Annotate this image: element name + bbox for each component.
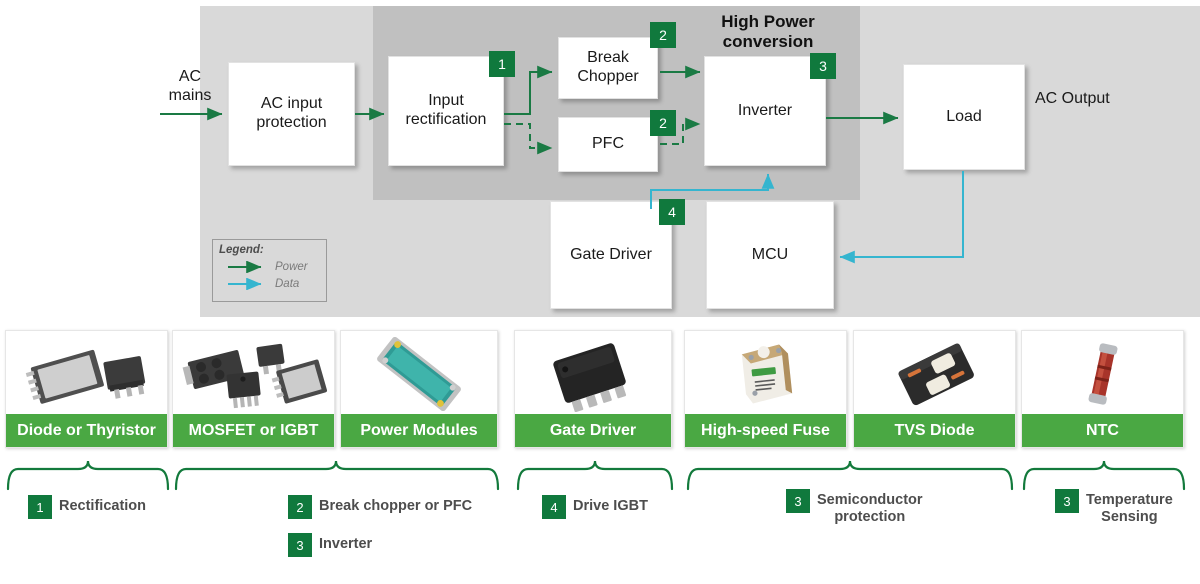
grouping-brackets	[0, 455, 1200, 495]
block-break-chopper[interactable]: Break Chopper	[558, 37, 658, 99]
block-inverter[interactable]: Inverter	[704, 56, 826, 166]
caption-inverter: 3 Inverter	[288, 533, 372, 557]
block-label: Inverter	[738, 102, 792, 121]
product-label-diode-or-thyristor: Diode or Thyristor	[6, 414, 167, 447]
caption-badge: 2	[288, 495, 312, 519]
legend: Legend: Power Data	[212, 239, 327, 302]
caption-label: Rectification	[59, 495, 146, 515]
power-conversion-diagram: High Power conversion AC mains AC Output	[0, 0, 1200, 584]
product-image-power-modules	[341, 331, 497, 416]
product-image-ntc	[1022, 331, 1183, 416]
block-load[interactable]: Load	[903, 64, 1025, 170]
caption-label: Break chopper or PFC	[319, 495, 472, 515]
badge-1-input-rectification: 1	[489, 51, 515, 77]
product-card-diode-or-thyristor[interactable]: Diode or Thyristor	[5, 330, 168, 448]
ac-output-label: AC Output	[1035, 90, 1155, 109]
badge-3-inverter: 3	[810, 53, 836, 79]
caption-label: Inverter	[319, 533, 372, 553]
product-image-gate-driver	[515, 331, 671, 416]
block-gate-driver[interactable]: Gate Driver	[550, 201, 672, 309]
product-image-diode-or-thyristor	[6, 331, 167, 416]
product-label-tvs-diode: TVS Diode	[854, 414, 1015, 447]
product-label-ntc: NTC	[1022, 414, 1183, 447]
block-label: Input rectification	[391, 92, 501, 130]
section-title: High Power conversion	[693, 12, 843, 51]
power-arrow-icon	[227, 261, 271, 273]
caption-badge: 3	[288, 533, 312, 557]
product-label-mosfet-or-igbt: MOSFET or IGBT	[173, 414, 334, 447]
legend-row-data: Data	[219, 275, 320, 292]
data-arrow-icon	[227, 278, 271, 290]
caption-break-chopper-or-pfc: 2 Break chopper or PFC	[288, 495, 472, 519]
product-card-high-speed-fuse[interactable]: High-speed Fuse	[684, 330, 847, 448]
product-card-tvs-diode[interactable]: TVS Diode	[853, 330, 1016, 448]
legend-row-power: Power	[219, 258, 320, 275]
block-label: Break Chopper	[561, 49, 655, 87]
block-pfc[interactable]: PFC	[558, 117, 658, 172]
product-image-mosfet-or-igbt	[173, 331, 334, 416]
legend-data-label: Data	[275, 278, 299, 290]
block-label: MCU	[752, 246, 788, 265]
product-label-power-modules: Power Modules	[341, 414, 497, 447]
legend-power-label: Power	[275, 261, 308, 273]
badge-2-break-chopper: 2	[650, 22, 676, 48]
product-label-high-speed-fuse: High-speed Fuse	[685, 414, 846, 447]
product-card-mosfet-or-igbt[interactable]: MOSFET or IGBT	[172, 330, 335, 448]
caption-badge: 1	[28, 495, 52, 519]
product-label-gate-driver: Gate Driver	[515, 414, 671, 447]
badge-2-pfc: 2	[650, 110, 676, 136]
caption-drive-igbt: 4 Drive IGBT	[542, 495, 648, 519]
caption-label: Drive IGBT	[573, 495, 648, 515]
block-mcu[interactable]: MCU	[706, 201, 834, 309]
legend-title: Legend:	[219, 244, 320, 256]
block-input-rectification[interactable]: Input rectification	[388, 56, 504, 166]
caption-badge: 4	[542, 495, 566, 519]
block-label: PFC	[592, 135, 624, 154]
product-card-ntc[interactable]: NTC	[1021, 330, 1184, 448]
caption-rectification: 1 Rectification	[28, 495, 146, 519]
product-card-gate-driver[interactable]: Gate Driver	[514, 330, 672, 448]
block-label: AC input protection	[231, 95, 352, 133]
block-label: Gate Driver	[570, 246, 652, 265]
ac-mains-label: AC mains	[158, 68, 222, 106]
block-label: Load	[946, 108, 982, 127]
product-card-power-modules[interactable]: Power Modules	[340, 330, 498, 448]
badge-4-gate-driver: 4	[659, 199, 685, 225]
product-image-tvs-diode	[854, 331, 1015, 416]
product-image-high-speed-fuse	[685, 331, 846, 416]
block-ac-input-protection[interactable]: AC input protection	[228, 62, 355, 166]
